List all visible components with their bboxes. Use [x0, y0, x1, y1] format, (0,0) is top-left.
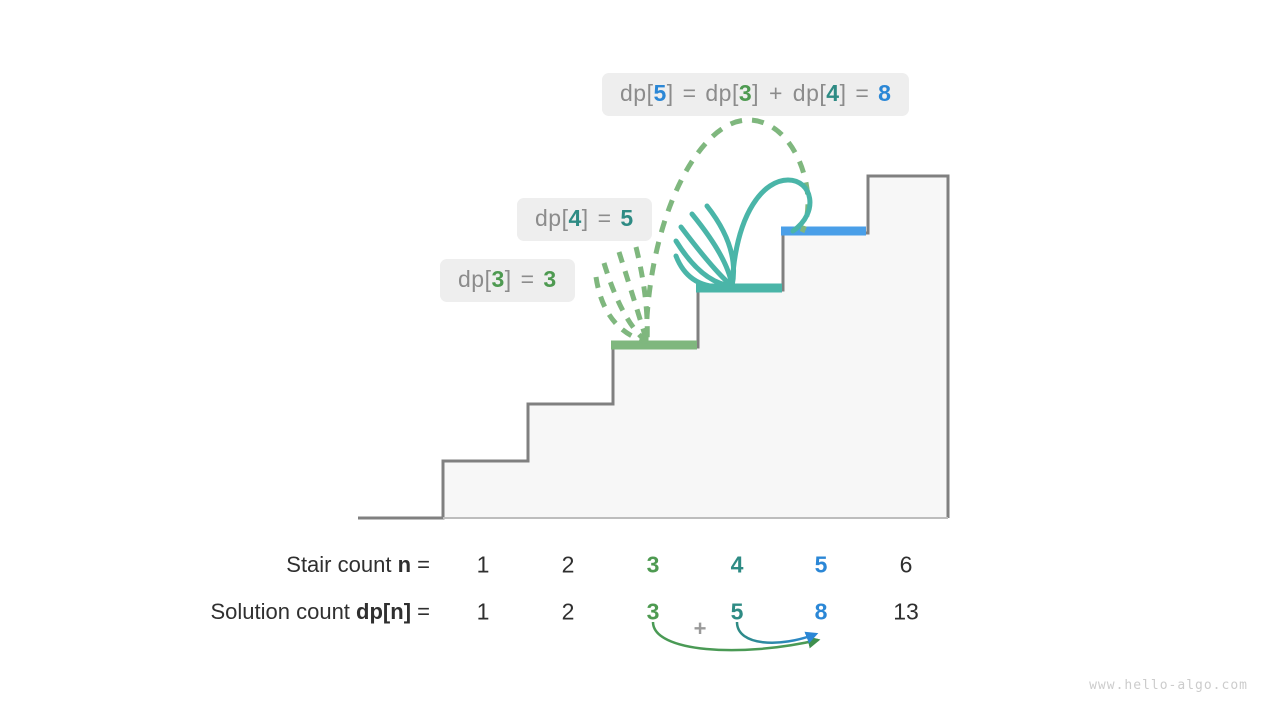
stair-count-cell-6: 6: [900, 552, 913, 579]
dp4-value-chip: dp[4] = 5: [517, 198, 652, 241]
dp5-term1-index: 3: [739, 80, 752, 106]
stair-count-cell-2: 2: [562, 552, 575, 579]
dp4-index: 4: [568, 205, 581, 231]
watermark-text: www.hello-algo.com: [1089, 678, 1248, 693]
dp3-prefix: dp: [458, 266, 485, 292]
dp3-close-bracket: ]: [505, 266, 512, 292]
dp3-index: 3: [491, 266, 504, 292]
solution-count-cell-2: 2: [562, 599, 575, 626]
solution-count-cell-1: 1: [477, 599, 490, 626]
dp4-close-bracket: ]: [582, 205, 589, 231]
dp5-close-bracket: ]: [667, 80, 674, 106]
solution-count-label-equals: =: [417, 599, 430, 624]
stair-count-cell-3: 3: [647, 552, 660, 579]
dp5-term2-close: ]: [840, 80, 847, 106]
dp4-equals: =: [596, 205, 614, 231]
solution-count-label-var: dp[n]: [356, 599, 411, 624]
stair-count-label-equals: =: [417, 552, 430, 577]
dp5-term2-prefix: dp: [793, 80, 820, 106]
solution-count-cell-5: 8: [815, 599, 828, 626]
stair-count-cell-5: 5: [815, 552, 828, 579]
solution-count-cell-4: 5: [731, 599, 744, 626]
dp5-equation-chip: dp[5] = dp[3] + dp[4] = 8: [602, 73, 909, 116]
dp5-index: 5: [653, 80, 666, 106]
solution-count-cell-6: 13: [893, 599, 919, 626]
stair-count-cell-1: 1: [477, 552, 490, 579]
dp3-value-chip: dp[3] = 3: [440, 259, 575, 302]
diagram-canvas: dp[5] = dp[3] + dp[4] = 8 dp[4] = 5 dp[3…: [0, 0, 1280, 720]
dp5-equals-2: =: [853, 80, 871, 106]
dp3-equals: =: [519, 266, 537, 292]
stair-count-cell-4: 4: [731, 552, 744, 579]
dp5-equals-1: =: [681, 80, 699, 106]
dp5-prefix: dp: [620, 80, 647, 106]
dp3-value: 3: [543, 266, 556, 292]
solution-count-label-text: Solution count: [210, 599, 349, 624]
green-dashed-fan: [596, 247, 647, 342]
stair-count-row-label: Stair count n =: [286, 552, 430, 578]
stair-count-label-var: n: [398, 552, 411, 577]
sum-arrow-from-5: [737, 622, 816, 643]
dp5-term1-open: [: [732, 80, 739, 106]
dp5-plus: +: [766, 80, 786, 106]
dp5-term1-prefix: dp: [705, 80, 732, 106]
solution-count-row-label: Solution count dp[n] =: [210, 599, 430, 625]
sum-arrow-from-3: [653, 622, 818, 650]
solution-count-cell-3: 3: [647, 599, 660, 626]
sum-plus-sign: +: [694, 616, 707, 642]
dp5-term2-index: 4: [826, 80, 839, 106]
stair-count-label-text: Stair count: [286, 552, 391, 577]
dp5-term1-close: ]: [752, 80, 759, 106]
dp4-prefix: dp: [535, 205, 562, 231]
dp5-result: 8: [878, 80, 891, 106]
dp4-value: 5: [620, 205, 633, 231]
teal-solid-fan: [676, 206, 734, 287]
